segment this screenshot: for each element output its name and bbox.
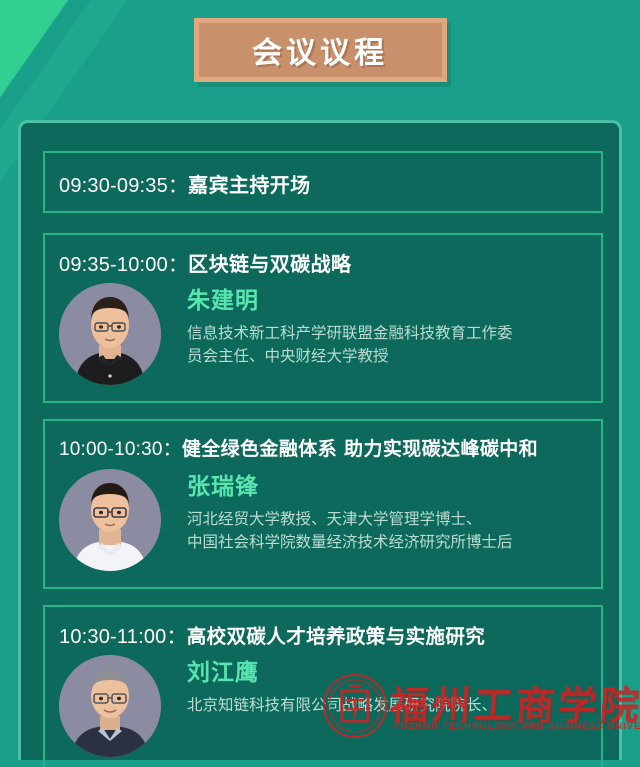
speaker-name: 刘江鹰 (187, 661, 497, 686)
banner-frame: 会议议程 (194, 18, 447, 82)
speaker-block: 刘江鹰 北京知链科技有限公司战略发展研究院院长、 (59, 655, 591, 757)
speaker-bio: 北京知链科技有限公司战略发展研究院院长、 (187, 694, 497, 716)
agenda-topic: 嘉宾主持开场 (188, 173, 310, 197)
agenda-topic: 高校双碳人才培养政策与实施研究 (187, 625, 486, 648)
speaker-bio: 河北经贸大学教授、天津大学管理学博士、 中国社会科学院数量经济技术经济研究所博士… (187, 508, 513, 553)
agenda-headline: 09:30-09:35：嘉宾主持开场 (59, 169, 593, 198)
agenda-item[interactable]: 10:30-11:00：高校双碳人才培养政策与实施研究 (43, 605, 603, 767)
agenda-time: 10:00-10:30： (59, 439, 182, 460)
speaker-name: 朱建明 (187, 289, 513, 314)
agenda-time: 10:30-11:00： (59, 626, 187, 648)
agenda-time: 09:30-09:35： (59, 175, 188, 197)
speaker-name: 张瑞锋 (187, 475, 513, 500)
agenda-item[interactable]: 09:30-09:35：嘉宾主持开场 (43, 151, 603, 213)
agenda-topic: 区块链与双碳战略 (188, 252, 351, 276)
avatar (59, 469, 161, 571)
speaker-block: 朱建明 信息技术新工科产学研联盟金融科技教育工作委 员会主任、中央财经大学教授 (59, 283, 591, 385)
agenda-headline: 10:30-11:00：高校双碳人才培养政策与实施研究 (59, 620, 593, 649)
agenda-time: 09:35-10:00： (59, 254, 188, 276)
agenda-headline: 09:35-10:00：区块链与双碳战略 (59, 248, 593, 277)
avatar (59, 655, 161, 757)
speaker-bio: 信息技术新工科产学研联盟金融科技教育工作委 员会主任、中央财经大学教授 (187, 322, 513, 367)
agenda-panel: 09:30-09:35：嘉宾主持开场 09:35-10:00：区块链与双碳战略 (18, 120, 622, 760)
header-banner: 会议议程 (0, 18, 640, 82)
page-title: 会议议程 (252, 28, 388, 72)
banner-inner: 会议议程 (199, 23, 442, 77)
speaker-block: 张瑞锋 河北经贸大学教授、天津大学管理学博士、 中国社会科学院数量经济技术经济研… (59, 469, 591, 571)
agenda-topic: 健全绿色金融体系 助力实现碳达峰碳中和 (182, 438, 538, 460)
agenda-headline: 10:00-10:30：健全绿色金融体系 助力实现碳达峰碳中和 (59, 434, 593, 461)
agenda-item[interactable]: 09:35-10:00：区块链与双碳战略 (43, 233, 603, 403)
agenda-item[interactable]: 10:00-10:30：健全绿色金融体系 助力实现碳达峰碳中和 (43, 419, 603, 589)
avatar (59, 283, 161, 385)
